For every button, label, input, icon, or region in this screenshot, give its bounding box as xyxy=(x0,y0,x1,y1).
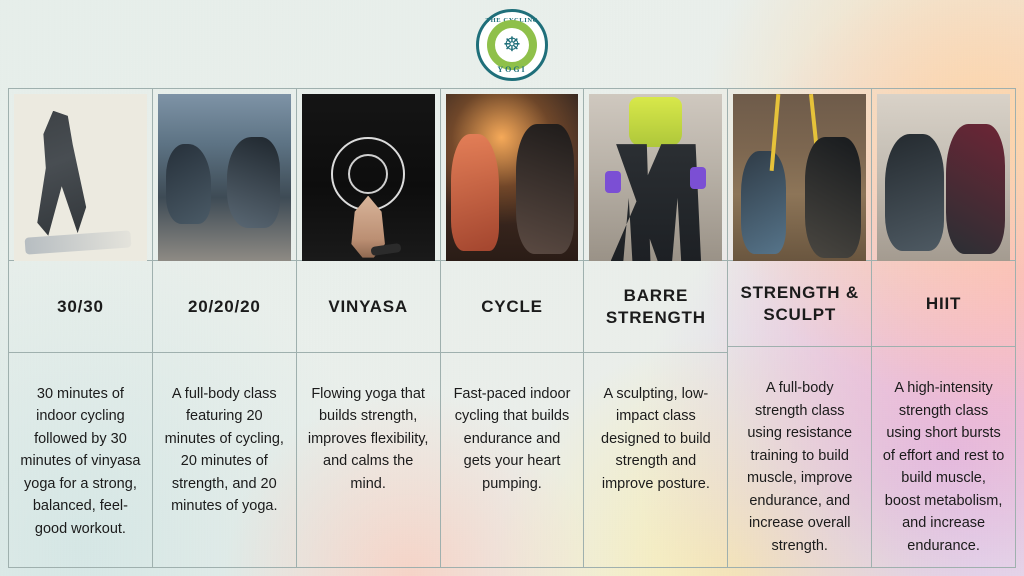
class-photo-cell xyxy=(872,89,1015,261)
class-photo-cell xyxy=(728,89,871,261)
class-title-cell: 20/20/20 xyxy=(153,261,296,353)
class-title-cell: HIIT xyxy=(872,261,1015,347)
trx-strap xyxy=(770,94,781,171)
class-description: A full-body class featuring 20 minutes o… xyxy=(163,383,286,518)
class-column: HIIT A high-intensity strength class usi… xyxy=(871,89,1016,567)
class-description-cell: Flowing yoga that builds strength, impro… xyxy=(297,353,440,567)
class-description: A full-body strength class using resista… xyxy=(738,377,861,557)
class-description: A high-intensity strength class using sh… xyxy=(882,377,1005,557)
class-photo xyxy=(158,94,291,261)
class-comparison-table: 30/30 30 minutes of indoor cycling follo… xyxy=(8,88,1016,568)
class-column: VINYASA Flowing yoga that builds strengt… xyxy=(296,89,440,567)
class-schedule-page: THE CYCLING ☸ YOGI 30/30 30 minutes of i… xyxy=(0,0,1024,576)
class-title: 20/20/20 xyxy=(188,296,261,317)
trx-strap xyxy=(809,94,821,171)
class-description-cell: A sculpting, low-impact class designed t… xyxy=(584,353,727,567)
class-column: STRENGTH & SCULPT A full-body strength c… xyxy=(727,89,871,567)
class-column: CYCLE Fast-paced indoor cycling that bui… xyxy=(440,89,584,567)
class-column: 20/20/20 A full-body class featuring 20 … xyxy=(152,89,296,567)
class-title-cell: CYCLE xyxy=(441,261,584,353)
class-description: A sculpting, low-impact class designed t… xyxy=(594,383,717,495)
class-title-cell: VINYASA xyxy=(297,261,440,353)
lotus-icon: ☸ xyxy=(495,28,529,62)
class-description-cell: A full-body class featuring 20 minutes o… xyxy=(153,353,296,567)
class-description: Fast-paced indoor cycling that builds en… xyxy=(451,383,574,495)
logo-inner-disc: ☸ xyxy=(487,20,537,70)
class-title: CYCLE xyxy=(481,296,543,317)
logo-bottom-text: YOGI xyxy=(479,65,545,74)
class-photo xyxy=(733,94,866,261)
class-description-cell: 30 minutes of indoor cycling followed by… xyxy=(9,353,152,567)
class-title: HIIT xyxy=(926,293,961,314)
class-title: BARRE STRENGTH xyxy=(590,285,721,328)
class-photo-cell xyxy=(9,89,152,261)
class-photo xyxy=(302,94,435,261)
class-photo-cell xyxy=(297,89,440,261)
class-description-cell: A high-intensity strength class using sh… xyxy=(872,347,1015,567)
class-photo-cell xyxy=(584,89,727,261)
class-photo-cell xyxy=(153,89,296,261)
class-title: VINYASA xyxy=(328,296,408,317)
class-photo xyxy=(589,94,722,261)
class-description: Flowing yoga that builds strength, impro… xyxy=(307,383,430,495)
class-title: 30/30 xyxy=(57,296,104,317)
dumbbell-icon xyxy=(605,171,621,193)
class-description-cell: Fast-paced indoor cycling that builds en… xyxy=(441,353,584,567)
brand-logo: THE CYCLING ☸ YOGI xyxy=(0,6,1024,84)
class-description: 30 minutes of indoor cycling followed by… xyxy=(19,383,142,540)
class-title-cell: BARRE STRENGTH xyxy=(584,261,727,353)
class-photo xyxy=(877,94,1010,261)
class-description-cell: A full-body strength class using resista… xyxy=(728,347,871,567)
class-photo-cell xyxy=(441,89,584,261)
dumbbell-icon xyxy=(690,167,706,189)
class-title: STRENGTH & SCULPT xyxy=(734,282,865,325)
class-column: BARRE STRENGTH A sculpting, low-impact c… xyxy=(583,89,727,567)
class-title-cell: STRENGTH & SCULPT xyxy=(728,261,871,347)
class-title-cell: 30/30 xyxy=(9,261,152,353)
class-photo xyxy=(14,94,147,261)
class-photo xyxy=(446,94,579,261)
class-column: 30/30 30 minutes of indoor cycling follo… xyxy=(8,89,152,567)
logo-outer-ring: THE CYCLING ☸ YOGI xyxy=(476,9,548,81)
